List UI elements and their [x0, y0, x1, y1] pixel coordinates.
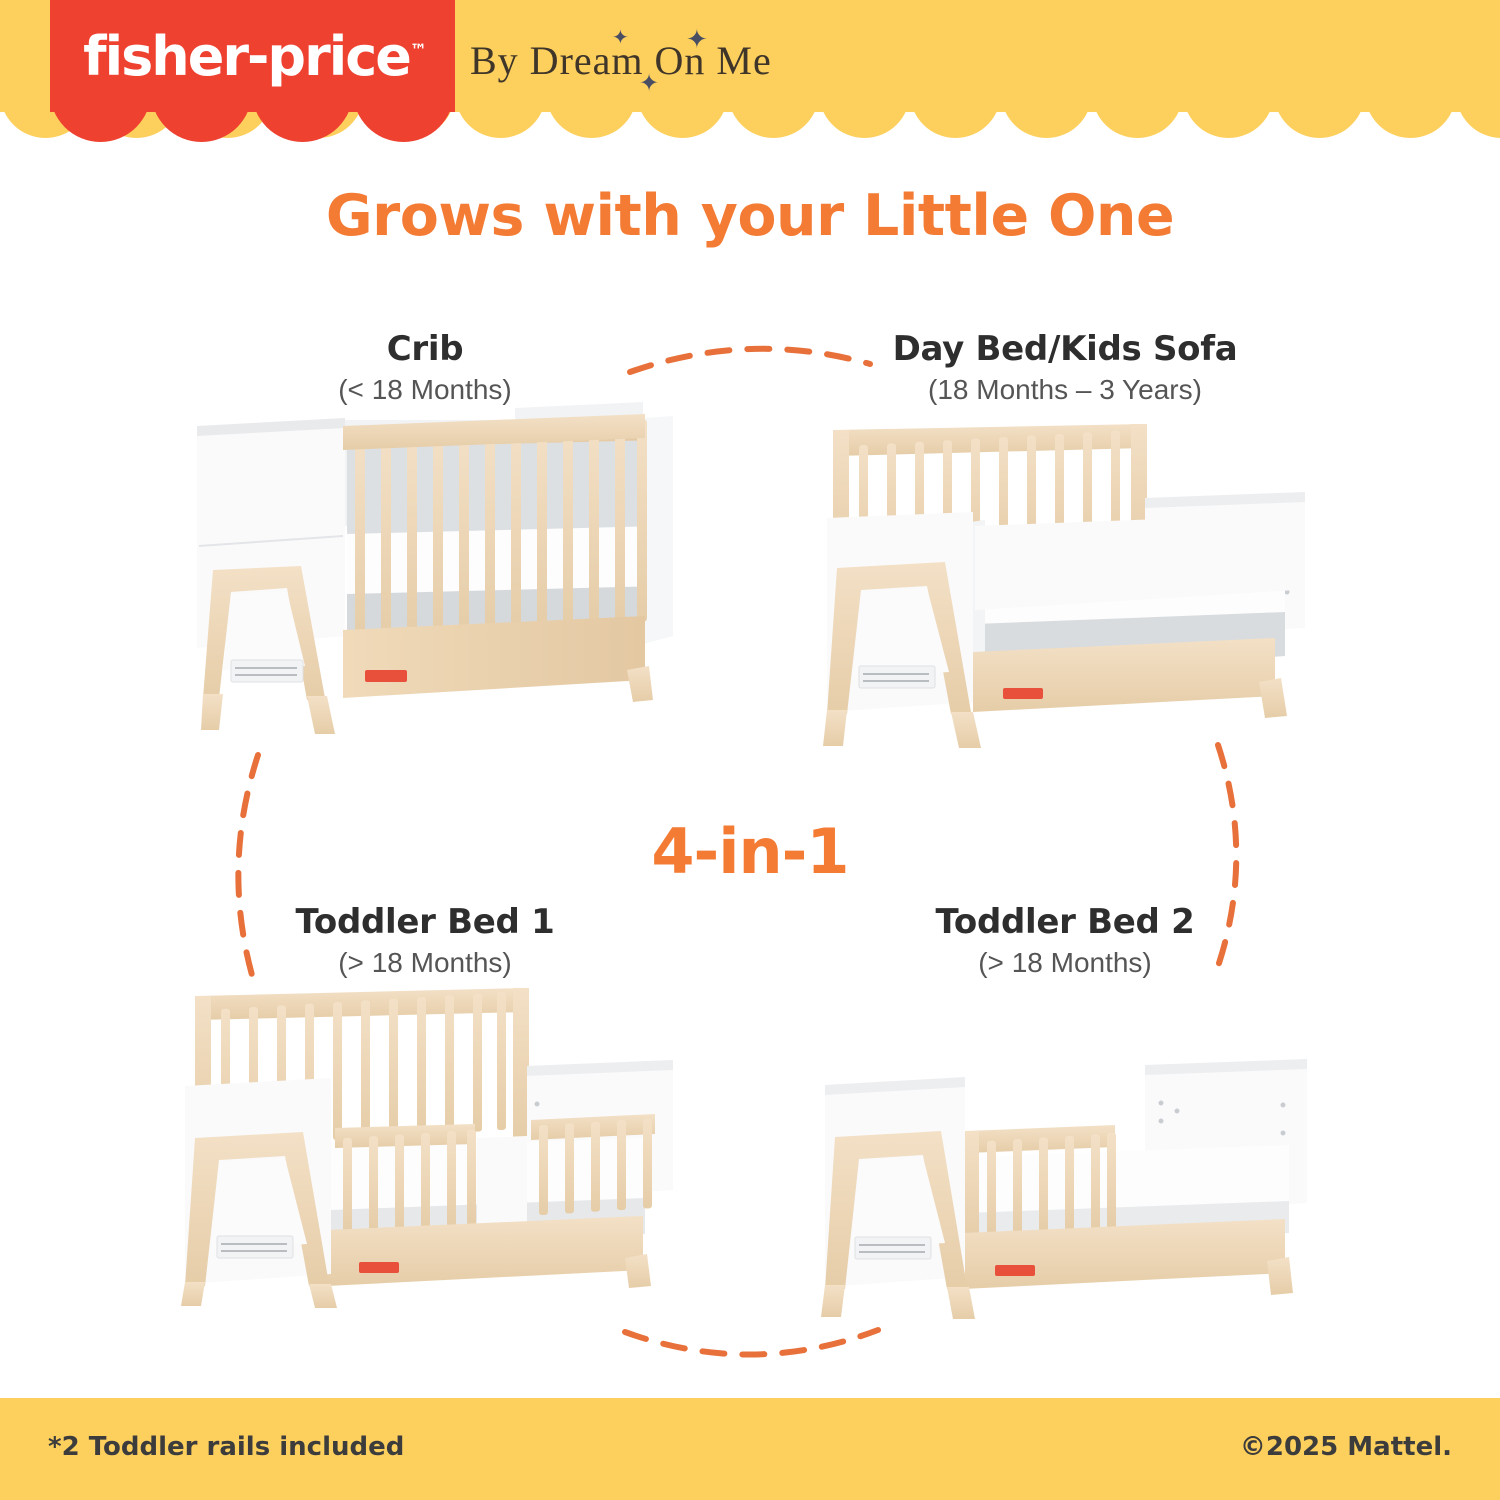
dream-on-me-byline: By Dream On Me [470, 30, 772, 90]
footer-copyright: ©2025 Mattel. [1240, 1432, 1452, 1462]
product-image-crib [175, 398, 695, 738]
product-image-day-bed [815, 400, 1345, 750]
footer-note: *2 Toddler rails included [48, 1432, 404, 1462]
dream-on-me-text: By Dream On Me [470, 37, 772, 84]
label-toddler-bed-2-age: (> 18 Months) [835, 945, 1295, 980]
infographic-canvas: fisher-price™ By Dream On Me ✦ ✦ ✦ Grows… [0, 0, 1500, 1500]
label-toddler-bed-2-title: Toddler Bed 2 [835, 903, 1295, 941]
label-toddler-bed-1-age: (> 18 Months) [195, 945, 655, 980]
four-in-one-badge: 4-in-1 [520, 815, 980, 888]
fisher-price-logo-text: fisher-price [83, 25, 410, 88]
label-crib: Crib (< 18 Months) [195, 330, 655, 407]
label-day-bed: Day Bed/Kids Sofa (18 Months – 3 Years) [835, 330, 1295, 407]
label-toddler-bed-2: Toddler Bed 2 (> 18 Months) [835, 903, 1295, 980]
page-title: Grows with your Little One [0, 183, 1500, 249]
label-crib-title: Crib [195, 330, 655, 368]
label-toddler-bed-1: Toddler Bed 1 (> 18 Months) [195, 903, 655, 980]
header-red-scallops [50, 90, 455, 142]
trademark-symbol: ™ [410, 41, 427, 61]
product-image-toddler-bed-1 [175, 978, 705, 1308]
arc-top [630, 349, 870, 372]
product-image-toddler-bed-2 [815, 1045, 1345, 1335]
header-banner: fisher-price™ By Dream On Me ✦ ✦ ✦ [0, 0, 1500, 140]
label-toddler-bed-1-title: Toddler Bed 1 [195, 903, 655, 941]
fisher-price-logo: fisher-price™ [60, 22, 450, 92]
label-day-bed-title: Day Bed/Kids Sofa [835, 330, 1295, 368]
